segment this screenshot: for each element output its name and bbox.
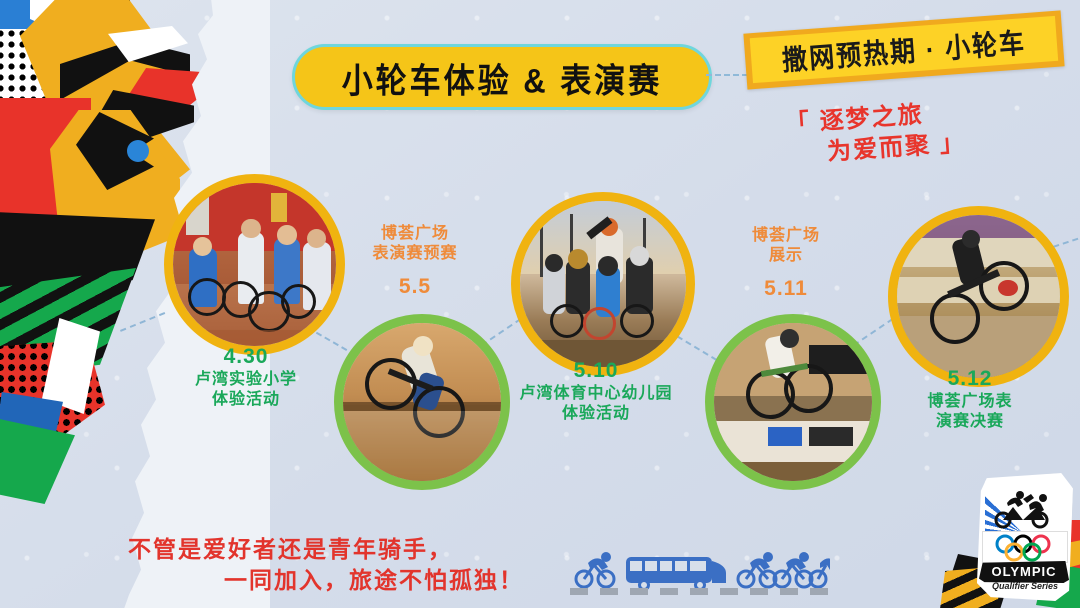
event-photo-3	[511, 192, 695, 376]
olympic-qualifier-series-logo: OLYMPIC Qualifier Series	[975, 473, 1073, 601]
bottom-slogan: 不管是爱好者还是青年骑手， 一同加入，旅途不怕孤独！	[128, 534, 548, 596]
event-date-1: 4.30	[156, 344, 336, 370]
main-title-pill: 小轮车体验 & 表演赛	[292, 44, 712, 110]
bus-icon	[626, 557, 726, 591]
event-photo-4	[705, 314, 881, 490]
event-photo-2	[334, 314, 510, 490]
event-photo-3-scene	[520, 201, 686, 367]
event-place-2-line1: 博荟广场	[342, 224, 488, 244]
event-place-3-line2: 体验活动	[498, 404, 694, 424]
event-label-3: 5.10 卢湾体育中心幼儿园 体验活动	[498, 358, 694, 424]
phase-ribbon: 撒网预热期 · 小轮车	[743, 10, 1064, 89]
event-place-4-line1: 博荟广场	[716, 226, 856, 246]
bottom-slogan-line1: 不管是爱好者还是青年骑手，	[128, 536, 453, 562]
phase-ribbon-inner: 撒网预热期 · 小轮车	[750, 16, 1058, 83]
event-date-4: 5.11	[716, 276, 856, 302]
event-photo-2-scene	[343, 323, 501, 481]
event-place-3-line1: 卢湾体育中心幼儿园	[498, 384, 694, 404]
bottom-icon-strip	[570, 543, 830, 595]
event-place-5-line1: 博荟广场表	[884, 392, 1056, 412]
event-place-1-line1: 卢湾实验小学	[156, 370, 336, 390]
cyclist-icon-1	[576, 552, 614, 587]
cyclist-icon-3	[774, 552, 812, 587]
road-dashes	[570, 588, 830, 595]
cyclist-icon-4	[810, 558, 830, 587]
title-dash-tail	[706, 74, 748, 78]
event-label-4: 博荟广场 展示 5.11	[716, 226, 856, 302]
main-title-text: 小轮车体验 & 表演赛	[342, 52, 663, 102]
event-photo-1	[164, 174, 345, 355]
event-label-1: 4.30 卢湾实验小学 体验活动	[156, 344, 336, 410]
poster-canvas: 小轮车体验 & 表演赛 撒网预热期 · 小轮车 「 逐梦之旅 为爱而聚 」	[0, 0, 1080, 608]
event-photo-5-scene	[897, 215, 1060, 378]
event-place-1-line2: 体验活动	[156, 390, 336, 410]
event-place-4-line2: 展示	[716, 246, 856, 266]
event-place-2-line2: 表演赛预赛	[342, 244, 488, 264]
blue-shape-top	[0, 0, 35, 29]
event-label-5: 5.12 博荟广场表 演赛决赛	[884, 366, 1056, 432]
event-photo-1-scene	[173, 183, 336, 346]
event-date-5: 5.12	[884, 366, 1056, 392]
right-slogan: 「 逐梦之旅 为爱而聚 」	[784, 90, 1068, 171]
phase-ribbon-text: 撒网预热期 · 小轮车	[781, 20, 1028, 78]
event-date-2: 5.5	[342, 274, 488, 300]
event-date-3: 5.10	[498, 358, 694, 384]
logo-bmx-silhouette	[993, 489, 1055, 529]
event-photo-4-scene	[714, 323, 872, 481]
event-place-5-line2: 演赛决赛	[884, 412, 1056, 432]
cyclist-icon-2	[738, 552, 776, 587]
logo-rings-band	[982, 531, 1068, 563]
logo-wordmark: OLYMPIC	[979, 561, 1069, 583]
blue-dot-mid	[127, 140, 149, 162]
logo-wordmark-text: OLYMPIC	[979, 561, 1069, 583]
event-photo-5	[888, 206, 1069, 387]
logo-subtitle: Qualifier Series	[985, 581, 1065, 591]
event-label-2: 博荟广场 表演赛预赛 5.5	[342, 224, 488, 300]
bottom-slogan-line2: 一同加入，旅途不怕孤独！	[128, 565, 548, 596]
olympic-rings-icon	[983, 532, 1067, 562]
